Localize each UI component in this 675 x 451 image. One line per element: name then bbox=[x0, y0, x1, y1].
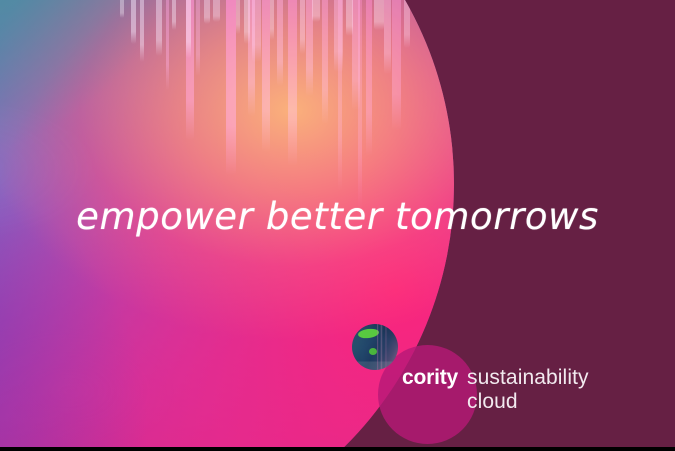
glitch-bar bbox=[277, 0, 283, 86]
glitch-bar bbox=[172, 0, 176, 30]
glitch-bar bbox=[213, 0, 220, 22]
bottom-black-bar bbox=[0, 447, 675, 451]
glitch-bar bbox=[392, 0, 401, 130]
glitch-bar bbox=[186, 0, 194, 140]
earth-globe-icon bbox=[352, 324, 398, 370]
glitch-bar bbox=[236, 0, 240, 34]
glitch-bar bbox=[338, 0, 342, 190]
glitch-bar bbox=[248, 0, 255, 116]
logo-product-name: sustainability cloud bbox=[467, 366, 589, 415]
glitch-bar bbox=[374, 0, 384, 30]
glitch-bar bbox=[140, 0, 144, 62]
logo-product-line-2: cloud bbox=[467, 390, 589, 414]
glitch-bar bbox=[358, 0, 362, 208]
glitch-bar bbox=[120, 0, 124, 18]
logo-text-group: cority sustainability cloud bbox=[402, 366, 589, 415]
glitch-bar bbox=[322, 0, 328, 124]
glitch-bar bbox=[156, 0, 162, 56]
globe-glitch-streaks bbox=[352, 324, 398, 370]
glitch-bar bbox=[270, 0, 274, 40]
logo-brand-name: cority bbox=[402, 366, 458, 390]
glitch-bar bbox=[384, 0, 391, 74]
brand-title-slide: empower better tomorrows cority sustaina… bbox=[0, 0, 675, 451]
glitch-bar bbox=[300, 0, 305, 54]
glitch-bar bbox=[166, 0, 169, 90]
glitch-bar bbox=[196, 0, 200, 76]
logo-product-line-1: sustainability bbox=[467, 366, 589, 390]
glitch-bar bbox=[226, 0, 236, 175]
glitch-bar bbox=[262, 0, 270, 152]
glitch-bar bbox=[366, 0, 372, 156]
tagline: empower better tomorrows bbox=[0, 198, 675, 235]
glitch-bar bbox=[404, 0, 410, 48]
glitch-bar bbox=[306, 0, 313, 96]
logo-lockup[interactable]: cority sustainability cloud bbox=[352, 322, 652, 442]
glitch-bar bbox=[131, 0, 136, 44]
glitch-bar bbox=[312, 0, 320, 22]
glitch-bar bbox=[204, 0, 210, 24]
glitch-bar bbox=[288, 0, 297, 166]
